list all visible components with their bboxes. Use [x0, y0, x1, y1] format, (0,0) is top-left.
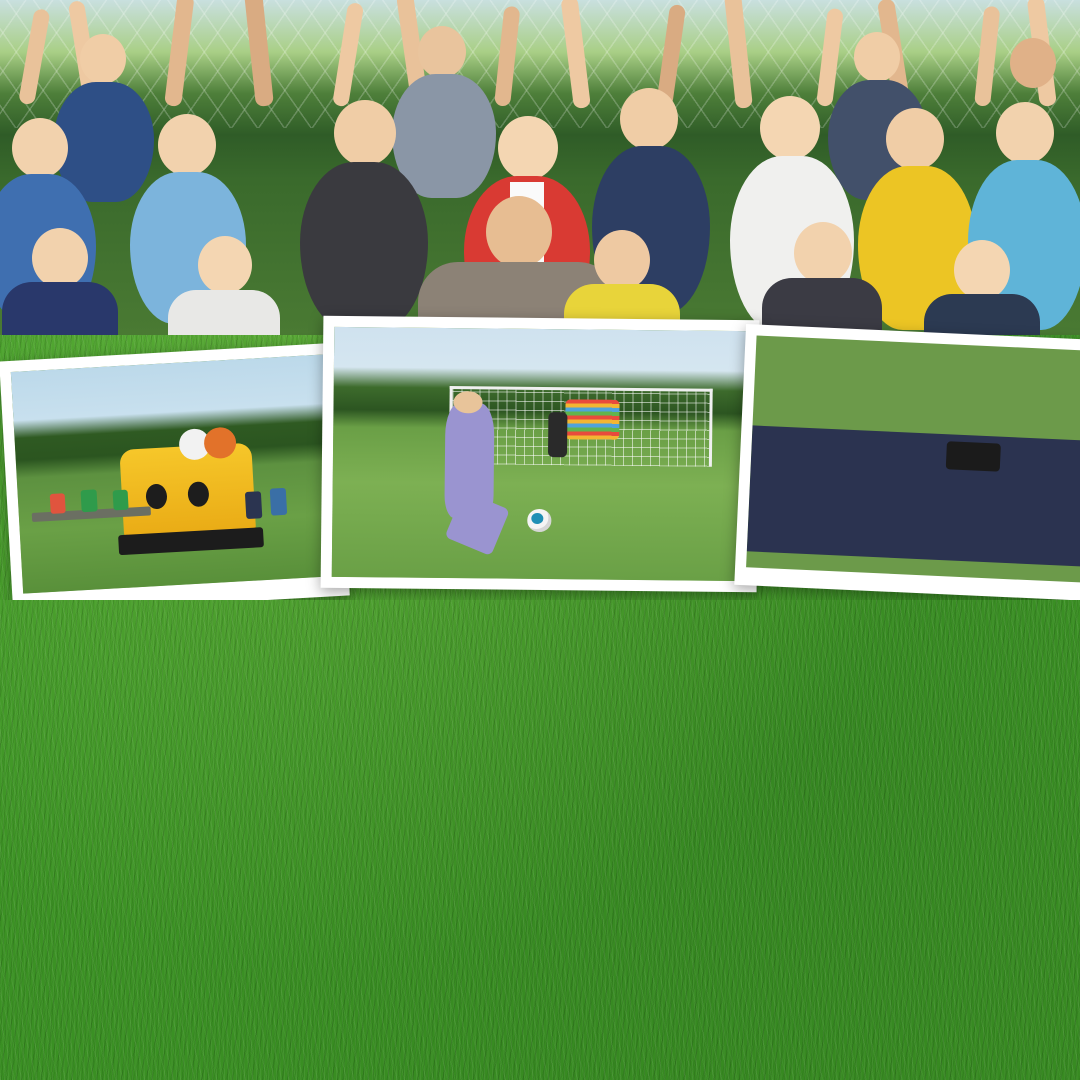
- photo-bouncy-castle-image: [11, 354, 338, 593]
- crowd-figures: [0, 0, 1080, 335]
- photo-collage: [0, 0, 1080, 600]
- photo-crowd-cheering-kids: [0, 0, 1080, 335]
- photo-celebrating-boys: [734, 324, 1080, 600]
- photo-penalty-kick-image: [332, 327, 749, 581]
- photo-penalty-kick: [321, 316, 760, 593]
- photo-bouncy-castle: [0, 343, 350, 600]
- goalkeeper-figure: [548, 412, 567, 457]
- photo-celebrating-boys-image: [746, 336, 1080, 583]
- match-ball: [527, 509, 552, 532]
- photo-crowd-image: [0, 0, 1080, 335]
- inflatable-background: [565, 399, 619, 440]
- poster: V.V. EGMOND JGD KMP 2026 AANVANG 17:00 1…: [0, 0, 1080, 1080]
